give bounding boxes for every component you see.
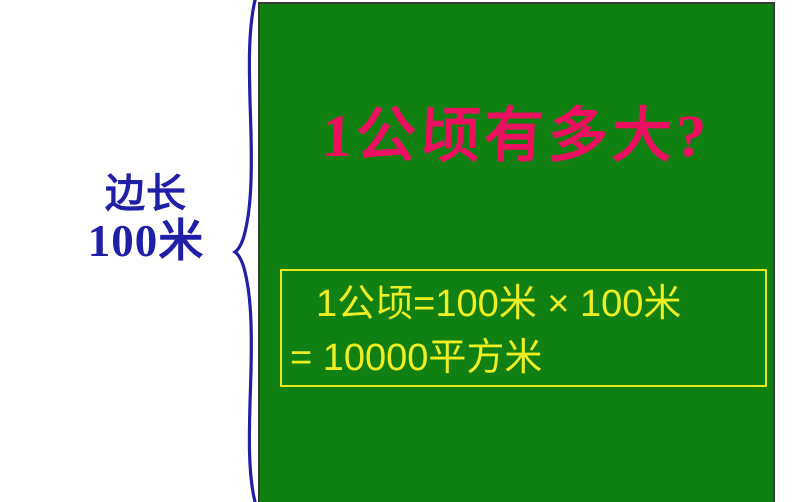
side-length-label-line1: 边长 [60, 172, 232, 215]
formula-line-1: 1公顷=100米 × 100米 [290, 277, 757, 331]
slide-canvas: 边长 100米 1公顷有多大? 1公顷=100米 × 100米 = 10000平… [0, 0, 802, 502]
side-length-label: 边长 100米 [60, 172, 232, 266]
side-length-label-line2: 100米 [60, 217, 232, 266]
formula-box: 1公顷=100米 × 100米 = 10000平方米 [280, 269, 767, 387]
formula-line-2: = 10000平方米 [290, 331, 757, 385]
green-content-panel: 1公顷有多大? 1公顷=100米 × 100米 = 10000平方米 [258, 2, 775, 502]
page-title: 1公顷有多大? [285, 106, 747, 166]
